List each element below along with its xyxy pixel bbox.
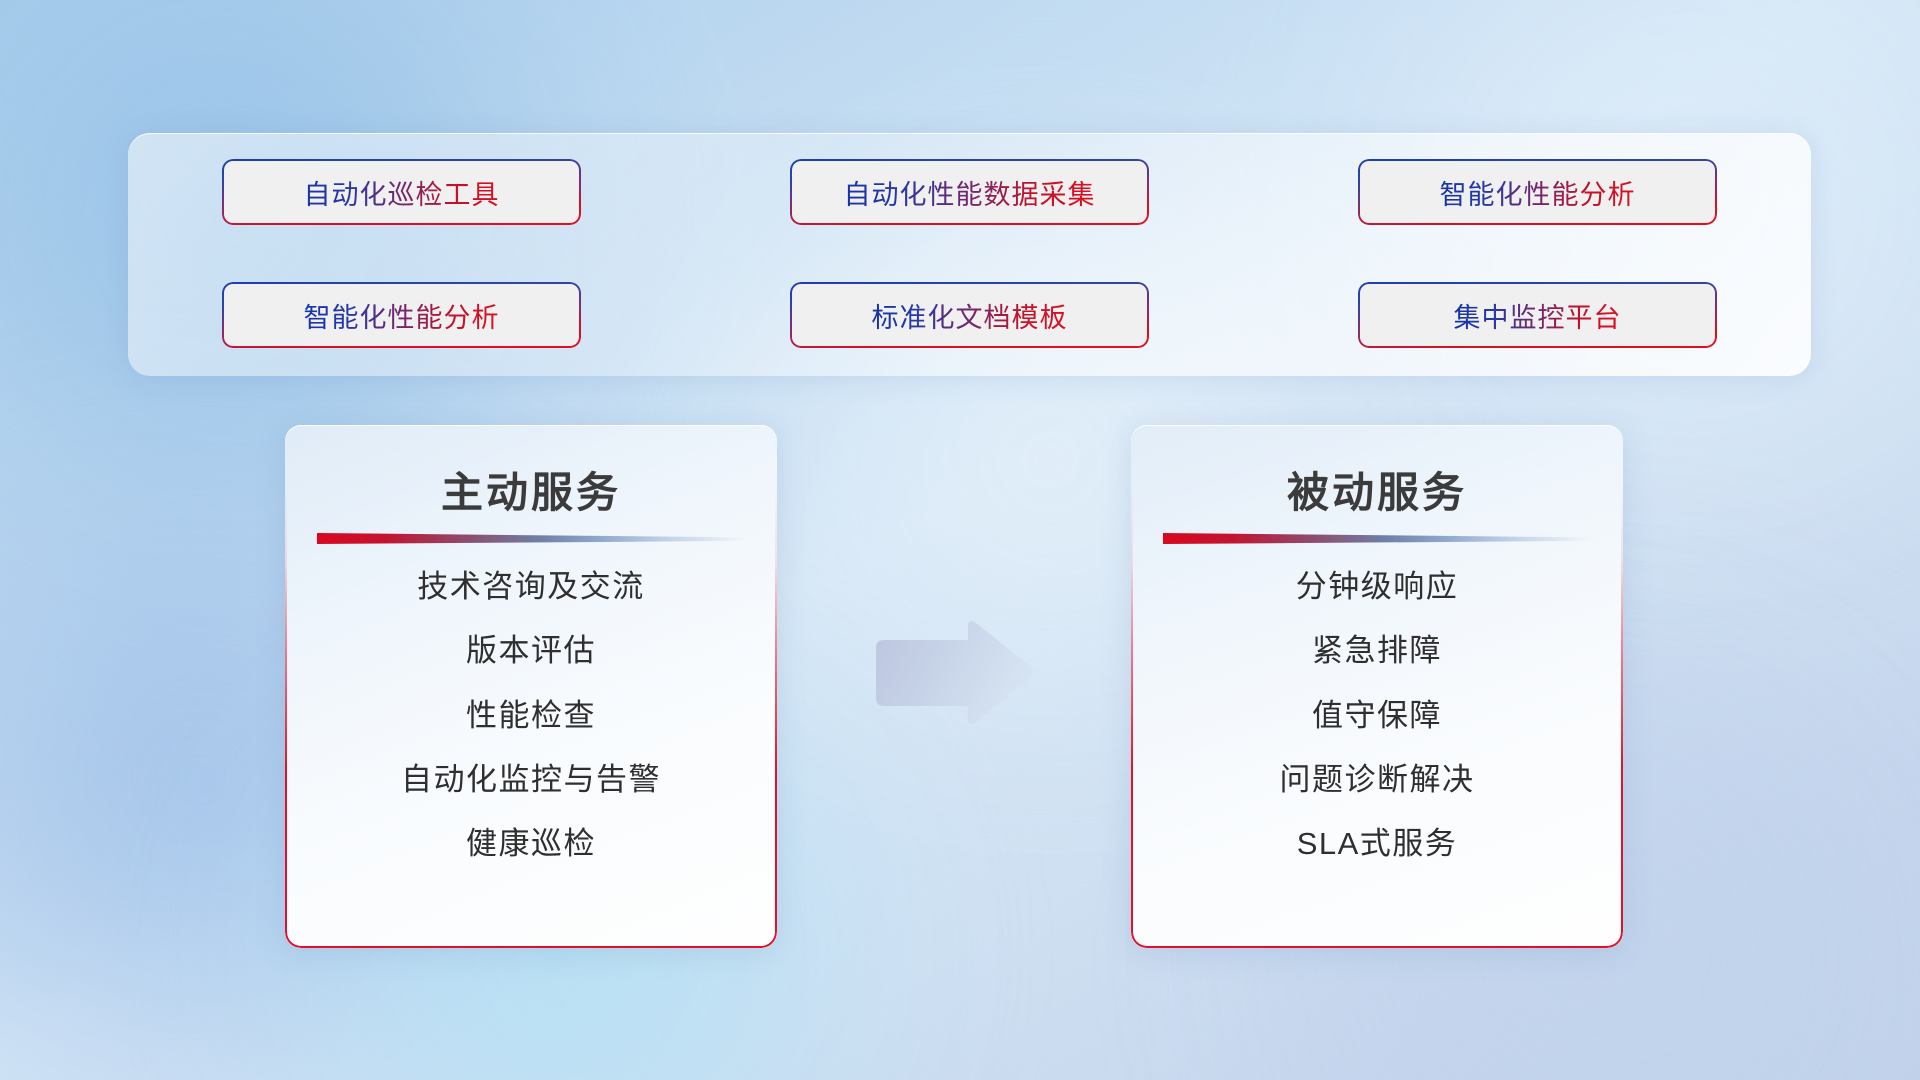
capability-pill-3-label: 智能化性能分析	[1440, 173, 1636, 212]
capability-pill-5-label: 标准化文档模板	[872, 296, 1068, 335]
card-divider-proactive	[317, 533, 745, 544]
list-item: 健康巡检	[466, 824, 596, 864]
capability-pill-1-label: 自动化巡检工具	[304, 173, 500, 212]
capability-pill-2-label: 自动化性能数据采集	[844, 173, 1096, 212]
service-card-reactive: 被动服务 分钟级响应 紧急排障 值守保障 问题诊断解决 SLA式服务	[1131, 425, 1623, 948]
capability-pill-6[interactable]: 集中监控平台	[1360, 284, 1715, 346]
card-title-reactive: 被动服务	[1131, 459, 1623, 520]
capability-pill-2[interactable]: 自动化性能数据采集	[792, 161, 1147, 223]
list-item: 自动化监控与告警	[401, 760, 661, 800]
list-item: 紧急排障	[1312, 631, 1442, 671]
capability-pill-4[interactable]: 智能化性能分析	[224, 284, 579, 346]
service-card-proactive: 主动服务 技术咨询及交流 版本评估 性能检查 自动化监控与告警 健康巡检	[285, 425, 777, 948]
arrow-right-icon	[872, 618, 1036, 730]
card-list-proactive: 技术咨询及交流 版本评估 性能检查 自动化监控与告警 健康巡检	[285, 567, 777, 864]
capability-pill-1[interactable]: 自动化巡检工具	[224, 161, 579, 223]
capability-pill-4-label: 智能化性能分析	[304, 296, 500, 335]
capability-grid: 自动化巡检工具 自动化性能数据采集 智能化性能分析 智能化性能分析 标准化文档模…	[128, 133, 1811, 376]
card-list-reactive: 分钟级响应 紧急排障 值守保障 问题诊断解决 SLA式服务	[1131, 567, 1623, 864]
list-item: 版本评估	[466, 631, 596, 671]
card-title-proactive: 主动服务	[285, 459, 777, 520]
list-item: 性能检查	[466, 696, 596, 736]
capability-pill-5[interactable]: 标准化文档模板	[792, 284, 1147, 346]
list-item: 分钟级响应	[1296, 567, 1459, 607]
list-item: 问题诊断解决	[1280, 760, 1475, 800]
card-divider-reactive	[1163, 533, 1591, 544]
list-item: 值守保障	[1312, 696, 1442, 736]
list-item: 技术咨询及交流	[417, 567, 645, 607]
list-item: SLA式服务	[1297, 824, 1458, 864]
capability-pill-3[interactable]: 智能化性能分析	[1360, 161, 1715, 223]
capability-panel: 自动化巡检工具 自动化性能数据采集 智能化性能分析 智能化性能分析 标准化文档模…	[128, 133, 1811, 376]
capability-pill-6-label: 集中监控平台	[1454, 296, 1622, 335]
